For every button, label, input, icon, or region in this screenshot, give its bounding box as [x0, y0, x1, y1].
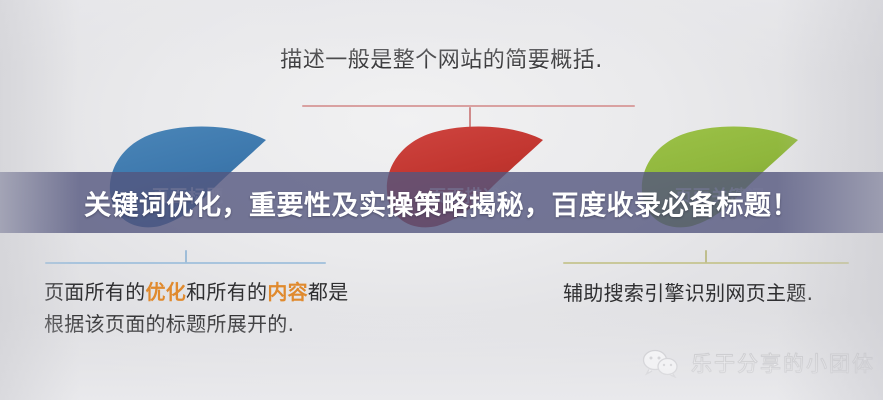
wechat-watermark: 乐于分享的小团体: [641, 348, 875, 378]
watermark-text: 乐于分享的小团体: [691, 348, 875, 378]
highlight-optimization: 优化: [146, 280, 187, 304]
text-segment-2: 和所有的: [186, 280, 267, 304]
title-explanation-text: 页面所有的优化和所有的内容都是根据该页面的标题所展开的.: [44, 276, 354, 340]
keywords-connector: [563, 250, 849, 264]
title-banner-overlay: 关键词优化，重要性及实操策略揭秘，百度收录必备标题！: [0, 172, 883, 233]
description-caption: 描述一般是整个网站的简要概括.: [280, 45, 603, 77]
keywords-explanation-text: 辅助搜索引擎识别网页主题.: [563, 278, 813, 308]
text-segment-1: 页面所有的: [44, 280, 146, 304]
wechat-icon: [641, 348, 681, 378]
banner-headline: 关键词优化，重要性及实操策略揭秘，百度收录必备标题！: [84, 183, 799, 222]
connector-stem: [705, 250, 707, 263]
slide-canvas: 描述一般是整个网站的简要概括. 页面标题: [0, 0, 883, 400]
title-connector: [45, 250, 326, 264]
connector-stem: [185, 250, 187, 263]
highlight-content: 内容: [267, 280, 308, 304]
